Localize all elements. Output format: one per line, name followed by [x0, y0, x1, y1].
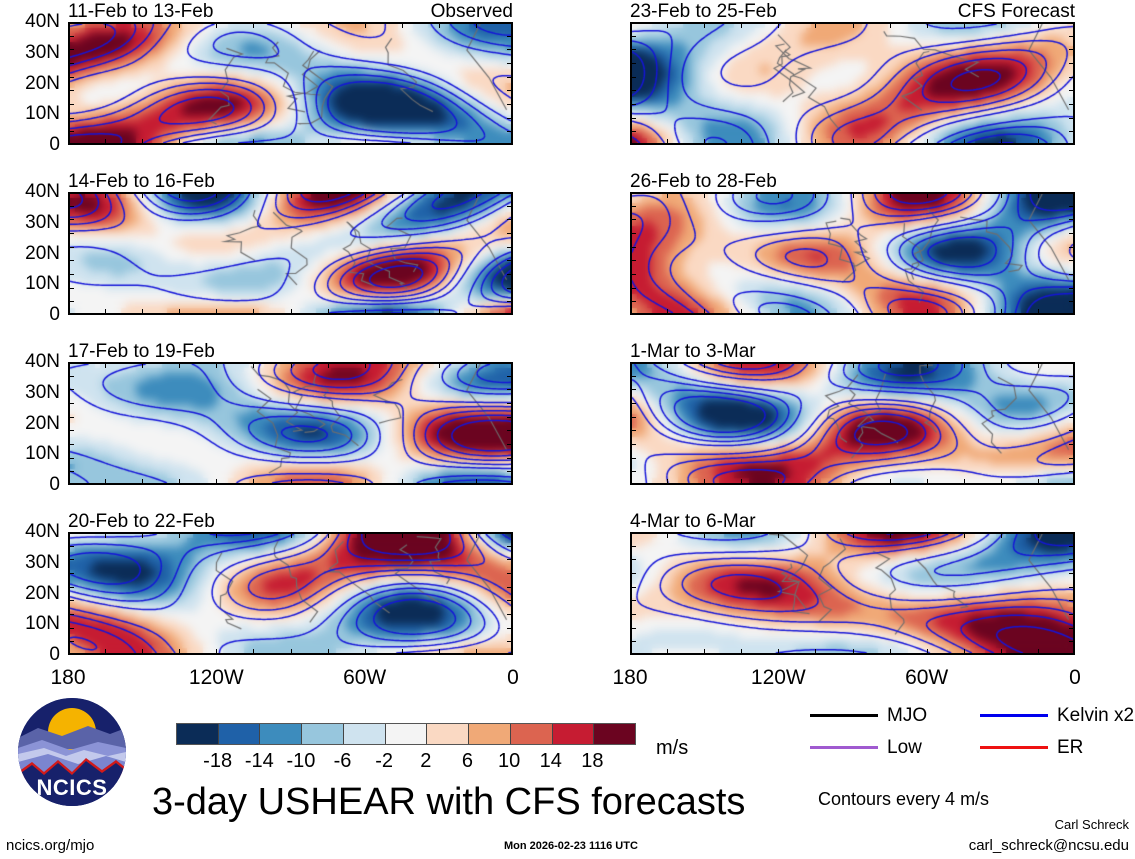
y-axis-label: 10N	[25, 274, 60, 293]
axis-tick	[630, 559, 636, 560]
axis-tick	[179, 309, 180, 315]
axis-tick	[507, 219, 513, 220]
axis-tick	[365, 309, 366, 315]
axis-tick	[890, 532, 891, 538]
axis-tick	[1038, 139, 1039, 145]
shaded-field-p3	[70, 364, 511, 483]
axis-tick	[1069, 247, 1075, 248]
axis-tick	[68, 587, 74, 588]
axis-tick	[507, 63, 513, 64]
axis-tick	[630, 247, 636, 248]
y-axis-label: 30N	[25, 213, 60, 232]
axis-tick	[1069, 301, 1075, 302]
axis-tick	[328, 479, 329, 485]
axis-tick	[507, 628, 513, 629]
axis-tick	[507, 389, 513, 390]
ncics-logo-graphic: NCICS	[18, 698, 126, 806]
axis-tick	[216, 479, 217, 485]
y-axis-labels-row-1: 40N30N20N10N0	[0, 22, 60, 145]
axis-tick	[741, 362, 742, 368]
axis-tick	[1001, 22, 1002, 28]
axis-tick	[964, 192, 965, 198]
x-axis-label: 0	[1069, 667, 1081, 688]
axis-tick	[291, 649, 292, 655]
axis-tick	[927, 309, 928, 315]
axis-tick	[291, 362, 292, 368]
axis-tick	[667, 649, 668, 655]
axis-tick	[507, 444, 513, 445]
axis-tick	[68, 403, 74, 404]
axis-tick	[476, 139, 477, 145]
axis-tick	[630, 288, 636, 289]
axis-tick	[964, 22, 965, 28]
axis-tick	[476, 649, 477, 655]
axis-tick	[507, 118, 513, 119]
panel-title-p8: 4-Mar to 6-Mar	[630, 512, 756, 531]
legend-item-kelvin-x2: Kelvin x2	[980, 706, 1134, 725]
x-axis-label: 180	[50, 667, 85, 688]
axis-tick	[507, 600, 513, 601]
legend-line-swatch	[810, 714, 878, 717]
colorbar-swatch	[510, 724, 552, 744]
axis-tick	[853, 22, 854, 28]
axis-tick	[365, 649, 366, 655]
x-axis-label: 120W	[751, 667, 806, 688]
axis-tick	[507, 90, 513, 91]
axis-tick	[68, 546, 74, 547]
axis-tick	[328, 139, 329, 145]
axis-tick	[68, 573, 74, 574]
axis-tick	[476, 362, 477, 368]
axis-tick	[1069, 403, 1075, 404]
axis-tick	[1069, 641, 1075, 642]
author-email: carl_schreck@ncsu.edu	[969, 838, 1129, 853]
y-axis-label: 20N	[25, 74, 60, 93]
column-header-right: CFS Forecast	[630, 2, 1075, 21]
axis-tick	[507, 49, 513, 50]
axis-tick	[68, 36, 74, 37]
axis-tick	[704, 192, 705, 198]
axis-tick	[68, 260, 74, 261]
axis-tick	[704, 362, 705, 368]
axis-tick	[667, 362, 668, 368]
y-axis-label: 40N	[25, 522, 60, 541]
axis-tick	[507, 587, 513, 588]
axis-tick	[68, 49, 74, 50]
axis-tick	[68, 131, 74, 132]
axis-tick	[68, 274, 74, 275]
shaded-field-p5	[632, 24, 1073, 143]
axis-tick	[402, 22, 403, 28]
x-axis-label: 0	[507, 667, 519, 688]
axis-tick	[439, 22, 440, 28]
axis-tick	[741, 479, 742, 485]
axis-tick	[68, 444, 74, 445]
axis-tick	[1069, 614, 1075, 615]
y-axis-label: 10N	[25, 614, 60, 633]
axis-tick	[741, 649, 742, 655]
axis-tick	[1069, 90, 1075, 91]
y-axis-label: 40N	[25, 352, 60, 371]
axis-tick	[142, 532, 143, 538]
y-axis-labels-row-4: 40N30N20N10N0	[0, 532, 60, 655]
y-axis-label: 30N	[25, 43, 60, 62]
axis-tick	[1069, 417, 1075, 418]
axis-tick	[815, 309, 816, 315]
axis-tick	[476, 532, 477, 538]
axis-tick	[778, 649, 779, 655]
axis-tick	[630, 206, 636, 207]
axis-tick	[853, 192, 854, 198]
axis-tick	[439, 192, 440, 198]
axis-tick	[853, 649, 854, 655]
axis-tick	[439, 139, 440, 145]
axis-tick	[630, 131, 636, 132]
colorbar-tick: -14	[245, 751, 274, 771]
shaded-field-p1	[70, 24, 511, 143]
axis-tick	[105, 649, 106, 655]
axis-tick	[507, 288, 513, 289]
colorbar-units-label: m/s	[656, 738, 688, 758]
shaded-field-p4	[70, 534, 511, 653]
axis-tick	[253, 139, 254, 145]
contour-interval-note: Contours every 4 m/s	[818, 790, 989, 808]
axis-tick	[1069, 288, 1075, 289]
axis-tick	[507, 247, 513, 248]
axis-tick	[964, 362, 965, 368]
axis-tick	[630, 104, 636, 105]
map-panel-p3	[68, 362, 513, 485]
axis-tick	[815, 649, 816, 655]
axis-tick	[1069, 559, 1075, 560]
axis-tick	[964, 532, 965, 538]
contour-legend: MJOKelvin x2LowER	[810, 706, 1130, 766]
axis-tick	[179, 192, 180, 198]
axis-tick	[630, 430, 636, 431]
axis-tick	[1001, 479, 1002, 485]
axis-tick	[927, 649, 928, 655]
axis-tick	[68, 430, 74, 431]
axis-tick	[1038, 22, 1039, 28]
axis-tick	[741, 22, 742, 28]
axis-tick	[890, 22, 891, 28]
ncics-logo: NCICS	[18, 698, 126, 806]
axis-tick	[216, 192, 217, 198]
panel-title-p2: 14-Feb to 16-Feb	[68, 172, 215, 191]
axis-tick	[105, 22, 106, 28]
axis-tick	[1069, 77, 1075, 78]
axis-tick	[1001, 309, 1002, 315]
axis-tick	[815, 22, 816, 28]
axis-tick	[507, 36, 513, 37]
axis-tick	[964, 649, 965, 655]
axis-tick	[68, 301, 74, 302]
axis-tick	[1038, 649, 1039, 655]
axis-tick	[216, 309, 217, 315]
axis-tick	[778, 139, 779, 145]
figure-title: 3-day USHEAR with CFS forecasts	[152, 783, 745, 821]
colorbar-tick: -10	[286, 751, 315, 771]
shaded-field-p2	[70, 194, 511, 313]
axis-tick	[328, 192, 329, 198]
axis-tick	[507, 559, 513, 560]
axis-tick	[105, 139, 106, 145]
y-axis-labels-row-2: 40N30N20N10N0	[0, 192, 60, 315]
panel-title-p7: 1-Mar to 3-Mar	[630, 342, 756, 361]
axis-tick	[476, 22, 477, 28]
axis-tick	[507, 301, 513, 302]
axis-tick	[1038, 479, 1039, 485]
axis-tick	[667, 309, 668, 315]
axis-tick	[630, 36, 636, 37]
column-header-left: Observed	[68, 2, 513, 21]
legend-label: Low	[887, 738, 922, 757]
axis-tick	[68, 77, 74, 78]
axis-tick	[142, 309, 143, 315]
axis-tick	[402, 309, 403, 315]
axis-tick	[1069, 233, 1075, 234]
axis-tick	[890, 139, 891, 145]
axis-tick	[507, 206, 513, 207]
y-axis-label: 10N	[25, 104, 60, 123]
colorbar-tick: -18	[203, 751, 232, 771]
axis-tick	[630, 49, 636, 50]
axis-tick	[890, 362, 891, 368]
axis-tick	[439, 649, 440, 655]
axis-tick	[1069, 260, 1075, 261]
colorbar	[176, 723, 636, 745]
colorbar-swatch	[385, 724, 427, 744]
axis-tick	[630, 389, 636, 390]
y-axis-label: 20N	[25, 414, 60, 433]
axis-tick	[291, 532, 292, 538]
y-axis-label: 20N	[25, 244, 60, 263]
axis-tick	[105, 192, 106, 198]
axis-tick	[179, 649, 180, 655]
colorbar-tick: 14	[540, 751, 562, 771]
axis-tick	[476, 192, 477, 198]
panel-title-p6: 26-Feb to 28-Feb	[630, 172, 777, 191]
axis-tick	[439, 532, 440, 538]
axis-tick	[1069, 471, 1075, 472]
axis-tick	[142, 362, 143, 368]
axis-tick	[507, 417, 513, 418]
axis-tick	[365, 192, 366, 198]
shaded-field-p8	[632, 534, 1073, 653]
colorbar-swatch	[343, 724, 385, 744]
axis-tick	[1069, 587, 1075, 588]
axis-tick	[890, 479, 891, 485]
colorbar-tick-labels: -18-14-10-6-226101418	[176, 751, 634, 775]
axis-tick	[179, 532, 180, 538]
axis-tick	[853, 139, 854, 145]
axis-tick	[927, 362, 928, 368]
axis-tick	[328, 532, 329, 538]
axis-tick	[402, 192, 403, 198]
axis-tick	[704, 649, 705, 655]
axis-tick	[507, 546, 513, 547]
axis-tick	[630, 444, 636, 445]
colorbar-tick: 2	[420, 751, 431, 771]
axis-tick	[68, 559, 74, 560]
axis-tick	[853, 309, 854, 315]
axis-tick	[68, 471, 74, 472]
axis-tick	[402, 139, 403, 145]
legend-item-er: ER	[980, 738, 1083, 757]
axis-tick	[439, 479, 440, 485]
axis-tick	[68, 206, 74, 207]
axis-tick	[179, 362, 180, 368]
axis-tick	[507, 458, 513, 459]
axis-tick	[1001, 139, 1002, 145]
axis-tick	[216, 649, 217, 655]
legend-line-swatch	[980, 714, 1048, 717]
x-axis-label: 60W	[905, 667, 948, 688]
axis-tick	[1001, 362, 1002, 368]
axis-tick	[142, 479, 143, 485]
axis-tick	[927, 479, 928, 485]
axis-tick	[630, 573, 636, 574]
axis-tick	[704, 479, 705, 485]
y-axis-label: 20N	[25, 584, 60, 603]
axis-tick	[1069, 104, 1075, 105]
axis-tick	[68, 219, 74, 220]
colorbar-swatch	[468, 724, 510, 744]
axis-tick	[741, 309, 742, 315]
axis-tick	[253, 479, 254, 485]
axis-tick	[964, 479, 965, 485]
y-axis-label: 30N	[25, 553, 60, 572]
axis-tick	[778, 22, 779, 28]
axis-tick	[1069, 430, 1075, 431]
axis-tick	[68, 90, 74, 91]
colorbar-swatch	[259, 724, 301, 744]
axis-tick	[1069, 573, 1075, 574]
y-axis-label: 10N	[25, 444, 60, 463]
axis-tick	[1069, 376, 1075, 377]
map-panel-p1	[68, 22, 513, 145]
colorbar-tick: -2	[375, 751, 393, 771]
axis-tick	[927, 192, 928, 198]
axis-tick	[253, 362, 254, 368]
axis-tick	[68, 288, 74, 289]
axis-tick	[778, 192, 779, 198]
axis-tick	[507, 274, 513, 275]
colorbar-swatch	[552, 724, 594, 744]
axis-tick	[630, 233, 636, 234]
axis-tick	[853, 532, 854, 538]
axis-tick	[704, 22, 705, 28]
legend-item-mjo: MJO	[810, 706, 927, 725]
legend-label: Kelvin x2	[1057, 706, 1134, 725]
axis-tick	[630, 471, 636, 472]
axis-tick	[68, 389, 74, 390]
axis-tick	[402, 479, 403, 485]
axis-tick	[142, 192, 143, 198]
axis-tick	[964, 309, 965, 315]
axis-tick	[507, 403, 513, 404]
axis-tick	[1069, 118, 1075, 119]
axis-tick	[216, 22, 217, 28]
axis-tick	[253, 532, 254, 538]
axis-tick	[927, 22, 928, 28]
axis-tick	[439, 362, 440, 368]
axis-tick	[291, 22, 292, 28]
axis-tick	[1069, 219, 1075, 220]
x-axis-label: 180	[612, 667, 647, 688]
panel-title-p4: 20-Feb to 22-Feb	[68, 512, 215, 531]
axis-tick	[890, 309, 891, 315]
axis-tick	[179, 479, 180, 485]
x-axis-labels-left: 180120W60W0	[28, 667, 553, 693]
axis-tick	[507, 233, 513, 234]
axis-tick	[68, 600, 74, 601]
axis-tick	[291, 479, 292, 485]
axis-tick	[402, 649, 403, 655]
y-axis-label: 0	[49, 305, 60, 324]
axis-tick	[68, 118, 74, 119]
axis-tick	[216, 532, 217, 538]
colorbar-swatch	[301, 724, 343, 744]
x-axis-label: 120W	[189, 667, 244, 688]
y-axis-label: 0	[49, 645, 60, 664]
axis-tick	[68, 247, 74, 248]
axis-tick	[1038, 362, 1039, 368]
axis-tick	[253, 309, 254, 315]
axis-tick	[507, 430, 513, 431]
axis-tick	[741, 139, 742, 145]
axis-tick	[1069, 600, 1075, 601]
axis-tick	[105, 362, 106, 368]
axis-tick	[507, 104, 513, 105]
axis-tick	[253, 192, 254, 198]
colorbar-tick: 10	[498, 751, 520, 771]
axis-tick	[630, 417, 636, 418]
colorbar-swatch	[426, 724, 468, 744]
x-axis-labels-right: 180120W60W0	[590, 667, 1115, 693]
axis-tick	[68, 641, 74, 642]
axis-tick	[1069, 63, 1075, 64]
axis-tick	[1069, 628, 1075, 629]
axis-tick	[815, 479, 816, 485]
site-url: ncics.org/mjo	[6, 838, 94, 853]
axis-tick	[1069, 131, 1075, 132]
axis-tick	[704, 309, 705, 315]
axis-tick	[68, 63, 74, 64]
axis-tick	[778, 479, 779, 485]
axis-tick	[630, 118, 636, 119]
map-panel-p7	[630, 362, 1075, 485]
axis-tick	[68, 458, 74, 459]
axis-tick	[1069, 444, 1075, 445]
axis-tick	[507, 376, 513, 377]
axis-tick	[704, 139, 705, 145]
axis-tick	[507, 573, 513, 574]
axis-tick	[1069, 458, 1075, 459]
legend-line-swatch	[810, 746, 878, 749]
axis-tick	[68, 104, 74, 105]
axis-tick	[630, 219, 636, 220]
axis-tick	[704, 532, 705, 538]
axis-tick	[68, 628, 74, 629]
shaded-field-p6	[632, 194, 1073, 313]
axis-tick	[142, 22, 143, 28]
axis-tick	[253, 649, 254, 655]
axis-tick	[1038, 192, 1039, 198]
axis-tick	[328, 362, 329, 368]
axis-tick	[1069, 206, 1075, 207]
axis-tick	[630, 458, 636, 459]
